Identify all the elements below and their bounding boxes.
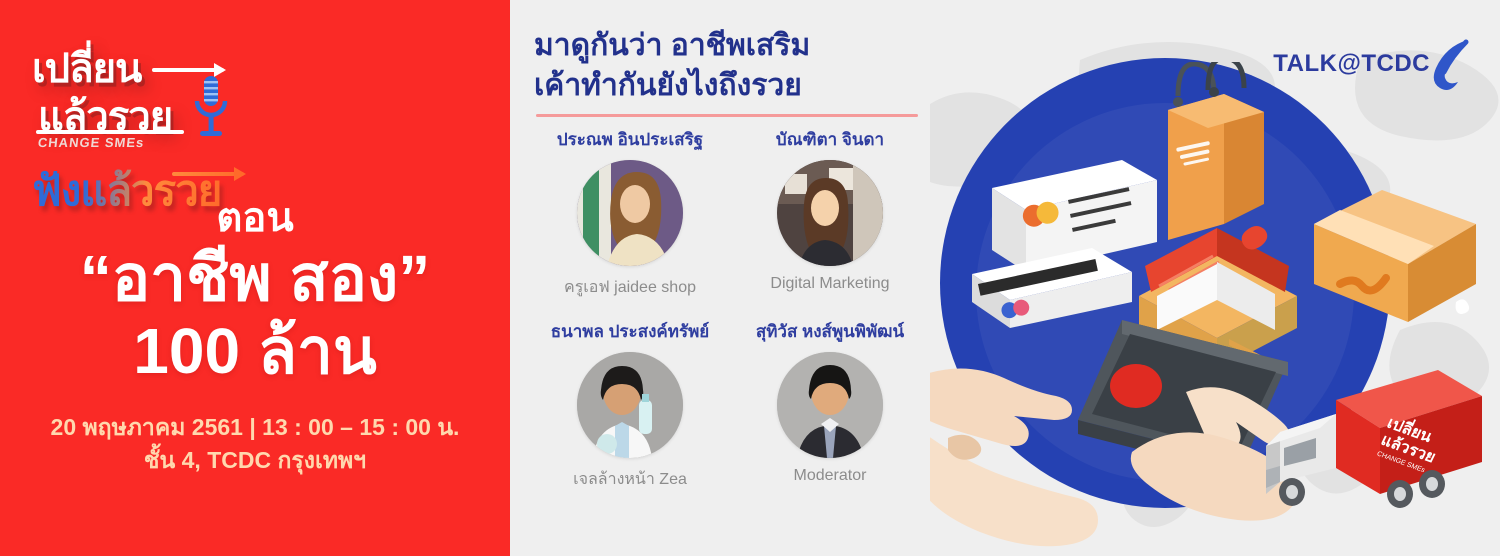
- change-smes-logo: เปลี่ยน แล้วรวย CHANGE SMEs ฟังแล้วรวย: [22, 22, 272, 217]
- speaker-card-2: บัณฑิตา จินดา: [730, 128, 930, 300]
- speaker-photo-4: [777, 352, 883, 458]
- swoosh-arrow-icon: [1428, 38, 1470, 90]
- speaker-role: Moderator: [730, 467, 930, 485]
- episode-amount: 100 ล้าน: [0, 315, 510, 388]
- talk-at-tcdc-logo: TALK@TCDC: [1273, 38, 1470, 90]
- speaker-photo-3: [577, 352, 683, 458]
- headline-divider: [536, 114, 918, 117]
- event-datetime: 20 พฤษภาคม 2561 | 13 : 00 – 15 : 00 น.: [0, 410, 510, 445]
- episode-label: ตอน: [0, 196, 510, 240]
- speaker-name: ธนาพล ประสงค์ทรัพย์: [530, 320, 730, 344]
- episode-text-block: ตอน “อาชีพ สอง” 100 ล้าน 20 พฤษภาคม 2561…: [0, 196, 510, 478]
- speakers-panel: มาดูกันว่า อาชีพเสริม เค้าทำกันยังไงถึงร…: [510, 0, 940, 556]
- speakers-row-top: ประณพ อินประเสริฐ ครูเอฟ jaidee shop: [530, 128, 930, 300]
- speakers-grid: ประณพ อินประเสริฐ ครูเอฟ jaidee shop: [530, 128, 930, 492]
- logo-arrow-top-icon: [152, 68, 224, 72]
- logo-line-3: CHANGE SMEs: [37, 135, 145, 150]
- speaker-card-1: ประณพ อินประเสริฐ ครูเอฟ jaidee shop: [530, 128, 730, 300]
- speaker-name: บัณฑิตา จินดา: [730, 128, 930, 152]
- microphone-icon: [192, 74, 230, 144]
- speaker-role: Digital Marketing: [730, 275, 930, 293]
- speaker-role: เจลล้างหน้า Zea: [530, 467, 730, 492]
- left-red-panel: เปลี่ยน แล้วรวย CHANGE SMEs ฟังแล้วรวย ต…: [0, 0, 510, 556]
- event-promo-banner: เปลี่ยน แล้วรวย CHANGE SMEs ฟังแล้วรวย ต…: [0, 0, 1500, 556]
- logo-arrow-bottom-icon: [172, 172, 244, 176]
- tcdc-logo-text: TALK@TCDC: [1273, 50, 1430, 78]
- delivery-truck-icon: เปลี่ยน แล้วรวย CHANGE SMEs: [1260, 370, 1485, 535]
- speaker-role: ครูเอฟ jaidee shop: [530, 275, 730, 300]
- speakers-row-bottom: ธนาพล ประสงค์ทรัพย์ เจ: [530, 320, 930, 492]
- speaker-card-4: สุทิวัส หงส์พูนพิพัฒน์ Moderator: [730, 320, 930, 492]
- speaker-name: ประณพ อินประเสริฐ: [530, 128, 730, 152]
- speaker-photo-1: [577, 160, 683, 266]
- speaker-name: สุทิวัส หงส์พูนพิพัฒน์: [730, 320, 930, 344]
- headline-block: มาดูกันว่า อาชีพเสริม เค้าทำกันยังไงถึงร…: [534, 26, 929, 106]
- ecommerce-illustration: TALK@TCDC: [930, 0, 1500, 556]
- episode-title: “อาชีพ สอง”: [0, 242, 510, 315]
- headline-line-2: เค้าทำกันยังไงถึงรวย: [534, 66, 929, 106]
- headline-line-1: มาดูกันว่า อาชีพเสริม: [534, 26, 929, 66]
- logo-underline: [36, 130, 184, 134]
- event-venue: ชั้น 4, TCDC กรุงเทพฯ: [0, 444, 510, 477]
- speaker-card-3: ธนาพล ประสงค์ทรัพย์ เจ: [530, 320, 730, 492]
- speaker-photo-2: [777, 160, 883, 266]
